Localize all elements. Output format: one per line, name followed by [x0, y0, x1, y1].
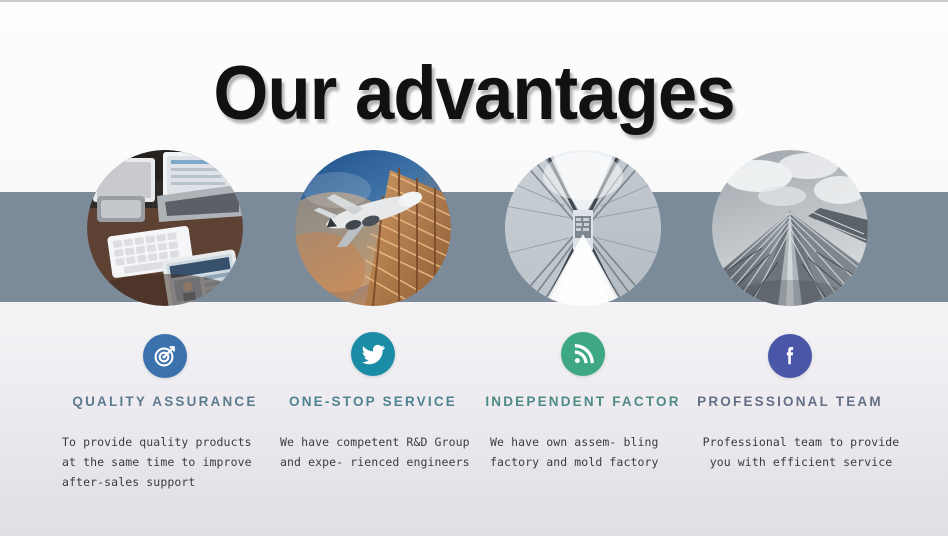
- badge-independent-factor[interactable]: [561, 332, 605, 376]
- advantage-heading: INDEPENDENT FACTOR: [466, 394, 700, 409]
- badge-one-stop-service[interactable]: [351, 332, 395, 376]
- badge-quality-assurance[interactable]: [143, 334, 187, 378]
- glass-corridor-building-photo: [505, 150, 661, 306]
- advantage-body: We have own assem- bling factory and mol…: [490, 432, 690, 472]
- top-edge-rule: [0, 0, 948, 2]
- target-icon: [153, 344, 177, 368]
- advantage-body: We have competent R&D Group and expe- ri…: [280, 432, 494, 472]
- advantage-body: Professional team to provide you with ef…: [693, 432, 909, 472]
- badge-professional-team[interactable]: [768, 334, 812, 378]
- advantage-heading: QUALITY ASSURANCE: [48, 394, 282, 409]
- page-title: Our advantages: [33, 52, 915, 136]
- desk-laptop-keyboard-tablet-photo: [87, 150, 243, 306]
- advantage-heading: ONE-STOP SERVICE: [256, 394, 490, 409]
- twitter-bird-icon: [361, 342, 386, 367]
- airplane-over-structure-photo: [295, 150, 451, 306]
- rss-signal-icon: [572, 343, 595, 366]
- facebook-f-icon: [779, 345, 801, 367]
- skyscrapers-looking-up-photo: [712, 150, 868, 306]
- advantage-heading: PROFESSIONAL TEAM: [673, 394, 907, 409]
- advantages-slide: Our advantages: [0, 0, 948, 536]
- advantage-body: To provide quality products at the same …: [62, 432, 302, 492]
